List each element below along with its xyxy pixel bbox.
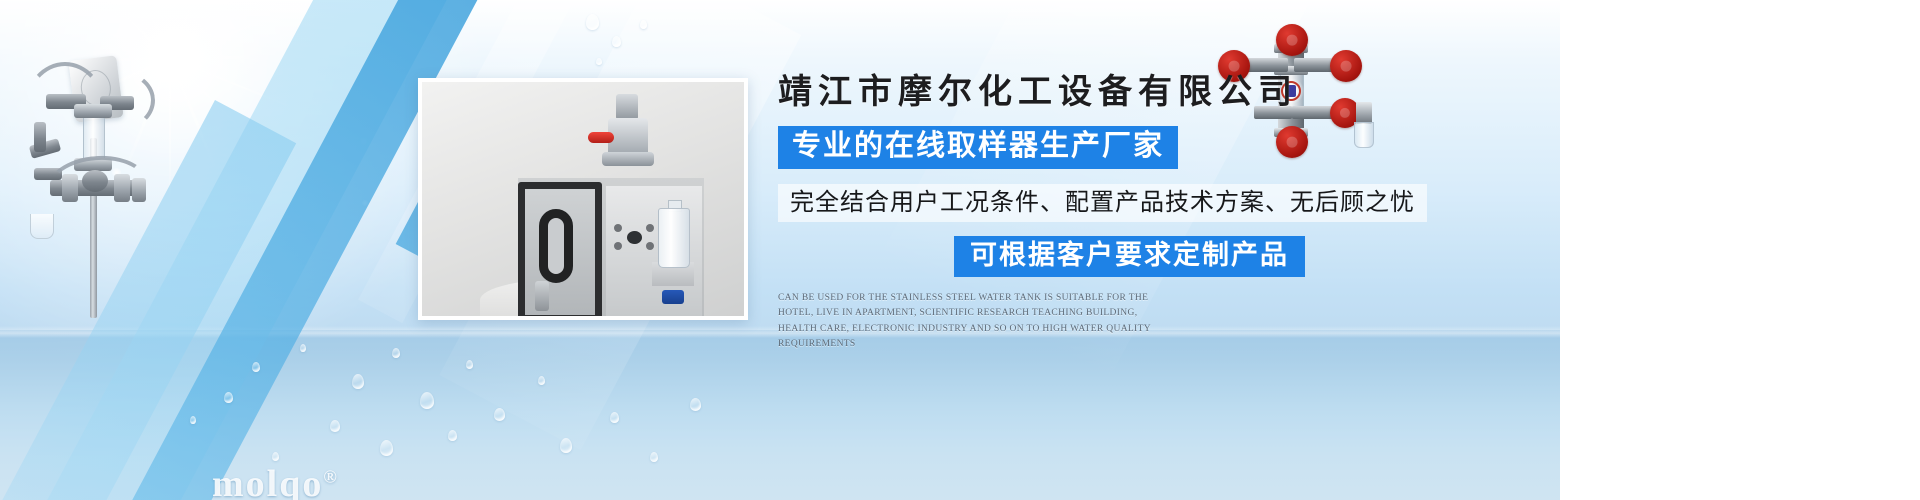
water-droplet-icon xyxy=(466,360,473,369)
cabinet-interior xyxy=(606,186,702,320)
water-droplet-icon xyxy=(610,412,619,423)
water-droplet-icon xyxy=(392,348,400,358)
water-droplet-icon xyxy=(224,392,233,403)
water-droplet-icon xyxy=(352,374,364,389)
water-droplet-icon xyxy=(538,376,545,385)
water-droplet-icon xyxy=(612,36,621,47)
secondary-badge-row: 可根据客户要求定制产品 xyxy=(954,236,1398,276)
watermark-text: molqo xyxy=(212,463,323,500)
red-handwheel-icon xyxy=(1276,24,1308,56)
promo-banner: 靖江市摩尔化工设备有限公司 专业的在线取样器生产厂家 完全结合用户工况条件、配置… xyxy=(0,0,1920,500)
photo-sampling-cabinet xyxy=(518,178,704,320)
water-droplet-icon xyxy=(690,398,701,411)
water-droplet-icon xyxy=(420,392,434,409)
valve-flange xyxy=(602,152,654,166)
water-droplet-icon xyxy=(586,14,599,30)
banner-background: 靖江市摩尔化工设备有限公司 专业的在线取样器生产厂家 完全结合用户工况条件、配置… xyxy=(0,0,1560,500)
water-droplet-icon xyxy=(380,440,393,456)
subheadline-row: 完全结合用户工况条件、配置产品技术方案、无后顾之忧 xyxy=(778,169,1398,223)
cabinet-bolt-holes xyxy=(614,222,654,252)
photo-top-valve xyxy=(590,92,664,170)
water-droplet-icon xyxy=(650,452,658,462)
english-description: CAN BE USED FOR THE STAINLESS STEEL WATE… xyxy=(778,291,1178,353)
subheadline: 完全结合用户工况条件、配置产品技术方案、无后顾之忧 xyxy=(778,184,1427,223)
product-flange xyxy=(74,104,112,118)
water-droplet-icon xyxy=(596,58,602,65)
water-droplet-icon xyxy=(494,408,505,421)
red-handle xyxy=(588,132,614,143)
cabinet-door xyxy=(518,182,602,320)
product-valve-stem xyxy=(34,122,46,152)
brand-watermark: molqo® xyxy=(212,462,339,500)
water-droplet-icon xyxy=(190,416,196,424)
water-droplet-icon xyxy=(272,452,279,461)
headline-badge-row: 专业的在线取样器生产厂家 xyxy=(778,126,1398,168)
secondary-badge: 可根据客户要求定制产品 xyxy=(954,236,1305,276)
door-latch xyxy=(535,281,549,311)
headline-badge: 专业的在线取样器生产厂家 xyxy=(778,126,1178,168)
water-droplet-icon xyxy=(330,420,340,432)
valve-top xyxy=(616,94,638,120)
banner-text-block: 靖江市摩尔化工设备有限公司 专业的在线取样器生产厂家 完全结合用户工况条件、配置… xyxy=(778,74,1398,352)
water-droplet-icon xyxy=(300,344,306,352)
water-droplet-icon xyxy=(252,362,260,372)
water-droplet-icon xyxy=(560,438,572,453)
sample-bottle xyxy=(658,208,690,268)
product-tube xyxy=(44,152,152,223)
company-name: 靖江市摩尔化工设备有限公司 xyxy=(778,74,1398,111)
left-product-image xyxy=(6,18,186,318)
product-sample-jar xyxy=(30,214,54,239)
watermark-registered-mark: ® xyxy=(323,466,338,486)
water-droplet-icon xyxy=(448,430,457,441)
water-droplet-icon xyxy=(640,20,647,29)
center-product-photo xyxy=(418,78,748,320)
blue-cap xyxy=(662,290,684,304)
door-handle xyxy=(539,209,573,283)
